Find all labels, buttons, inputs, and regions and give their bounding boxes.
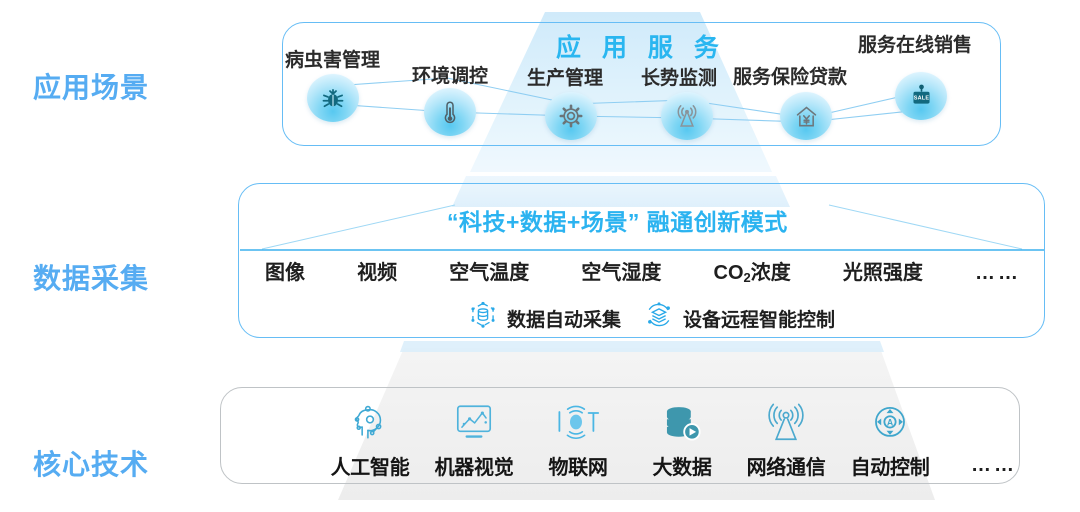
core-item-3[interactable]: 大数据 (630, 398, 734, 480)
application-service-title: 应 用 服 务 (556, 28, 726, 64)
app-node-label-2: 生产管理 (527, 63, 603, 90)
bug-icon[interactable] (307, 74, 359, 122)
svg-text:A: A (887, 417, 894, 427)
core-label-0: 人工智能 (331, 451, 410, 480)
svg-text:SALE: SALE (913, 95, 929, 101)
core-item-4[interactable]: 网络通信 (734, 398, 838, 480)
data-features-list: 数据自动采集 设备远程智能控制 (468, 300, 835, 336)
data-term-0: 图像 (265, 256, 305, 285)
data-feature-label-1: 设备远程智能控制 (683, 305, 835, 332)
data-term-ellipsis: …… (975, 262, 1021, 285)
data-term-2: 空气温度 (449, 256, 529, 285)
big-data-icon (659, 398, 705, 446)
core-item-1[interactable]: 机器视觉 (422, 398, 526, 480)
data-feature-1: 设备远程智能控制 (644, 300, 835, 336)
row-label-data-collection: 数据采集 (33, 257, 149, 297)
app-node-label-3: 长势监测 (641, 63, 717, 90)
app-node-label-0: 病虫害管理 (285, 45, 380, 72)
data-feature-0: 数据自动采集 (468, 300, 621, 336)
signal-tower-icon[interactable] (661, 92, 713, 140)
row-label-core-technologies: 核心技术 (33, 443, 149, 483)
core-technologies-list: 人工智能 机器视觉 (318, 398, 1046, 480)
core-item-0[interactable]: 人工智能 (318, 398, 422, 480)
data-headline: “科技+数据+场景” 融通创新模式 (447, 203, 788, 237)
core-label-3: 大数据 (652, 451, 711, 480)
data-node-icon (468, 300, 498, 336)
row-label-application-scenarios: 应用场景 (33, 66, 149, 106)
data-term-5: 光照强度 (843, 256, 923, 285)
core-label-5: 自动控制 (851, 451, 930, 480)
data-terms-list: 图像 视频 空气温度 空气湿度 CO2浓度 光照强度 …… (265, 256, 1021, 285)
house-yuan-icon[interactable] (780, 92, 832, 140)
iot-icon (554, 398, 602, 446)
core-ellipsis: …… (942, 454, 1046, 480)
app-node-label-5: 服务在线销售 (858, 30, 972, 57)
data-feature-label-0: 数据自动采集 (507, 305, 621, 332)
ai-brain-icon (347, 398, 393, 446)
app-node-label-4: 服务保险贷款 (733, 62, 847, 89)
thermometer-icon[interactable] (424, 88, 476, 136)
data-term-3: 空气湿度 (581, 256, 661, 285)
data-term-4: CO2浓度 (714, 256, 791, 285)
core-item-5[interactable]: A 自动控制 (838, 398, 942, 480)
infographic-canvas: 应用场景 应 用 服 务 病虫害管理 环境调控 生产管理 (0, 0, 1080, 512)
app-node-label-1: 环境调控 (412, 61, 488, 88)
core-label-1: 机器视觉 (435, 451, 514, 480)
core-item-2[interactable]: 物联网 (526, 398, 630, 480)
machine-vision-icon (451, 398, 497, 446)
gear-icon[interactable] (545, 92, 597, 140)
network-antenna-icon (762, 398, 810, 446)
core-label-2: 物联网 (548, 451, 607, 480)
data-term-1: 视频 (357, 256, 397, 285)
core-label-4: 网络通信 (747, 451, 826, 480)
sale-tag-icon[interactable]: SALE (895, 72, 947, 120)
auto-control-icon: A (867, 398, 913, 446)
layers-cloud-icon (644, 300, 674, 336)
